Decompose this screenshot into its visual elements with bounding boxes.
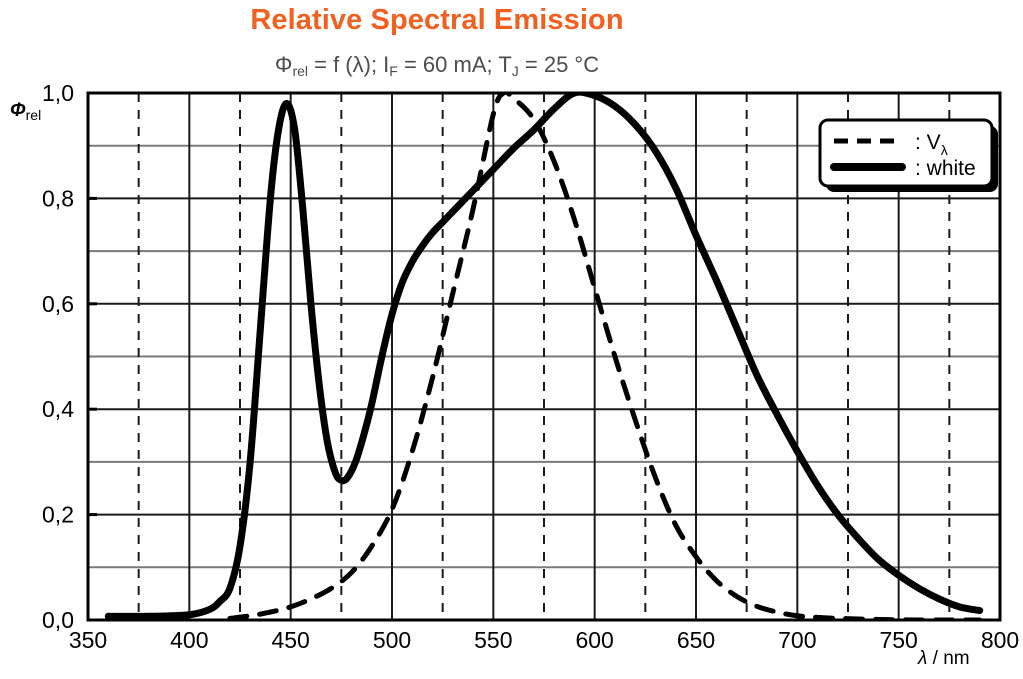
chart-legend: : Vλ: white <box>820 120 998 192</box>
y-tick-label: 1,0 <box>42 80 74 106</box>
x-tick-label: 800 <box>981 627 1019 653</box>
x-tick-label: 400 <box>170 627 208 653</box>
y-tick-label: 0,2 <box>42 502 74 528</box>
x-tick-label: 700 <box>778 627 816 653</box>
x-tick-label: 450 <box>271 627 309 653</box>
x-tick-label: 600 <box>575 627 613 653</box>
legend-label-white: : white <box>915 157 976 180</box>
y-tick-label: 0,8 <box>42 185 74 211</box>
x-tick-label: 750 <box>879 627 917 653</box>
x-tick-labels: 350400450500550600650700750800 <box>69 627 1019 653</box>
x-tick-label: 500 <box>373 627 411 653</box>
plot-area: 0,00,20,40,60,81,0 350400450500550600650… <box>0 0 1023 679</box>
y-tick-label: 0,6 <box>42 291 74 317</box>
chart-page: Relative Spectral Emission Φrel = f (λ);… <box>0 0 1023 679</box>
y-tick-label: 0,4 <box>42 396 74 422</box>
x-tick-label: 550 <box>474 627 512 653</box>
x-tick-label: 650 <box>677 627 715 653</box>
x-tick-label: 350 <box>69 627 107 653</box>
